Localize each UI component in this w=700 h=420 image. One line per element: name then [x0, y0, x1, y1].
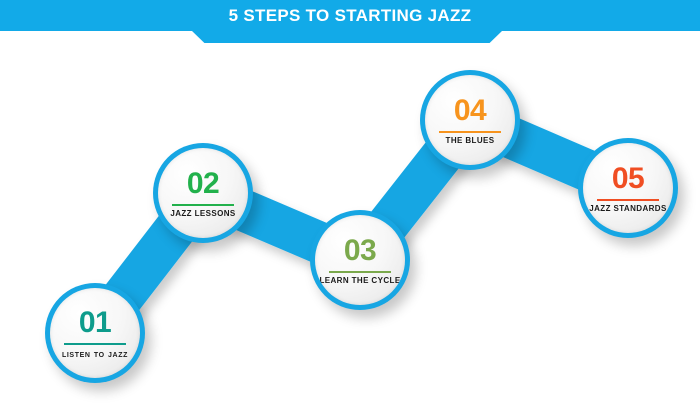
- step-rule-4: [439, 131, 501, 133]
- step-number-2: 02: [187, 169, 219, 199]
- step-inner-1: 01 Listen to Jazz: [50, 288, 140, 378]
- step-number-3: 03: [344, 236, 376, 266]
- step-number-1: 01: [79, 308, 111, 338]
- step-label-5: JAZZ STANDARDS: [589, 205, 666, 214]
- step-inner-2: 02 JAZZ LESSONS: [158, 148, 248, 238]
- step-node-3[interactable]: 03 LEARN THE CYCLE: [310, 210, 410, 310]
- step-label-2: JAZZ LESSONS: [170, 210, 235, 219]
- step-node-2[interactable]: 02 JAZZ LESSONS: [153, 143, 253, 243]
- step-node-5[interactable]: 05 JAZZ STANDARDS: [578, 138, 678, 238]
- step-rule-1: [64, 343, 126, 345]
- step-node-4[interactable]: 04 THE BLUES: [420, 70, 520, 170]
- step-node-1[interactable]: 01 Listen to Jazz: [45, 283, 145, 383]
- step-number-5: 05: [612, 164, 644, 194]
- step-inner-4: 04 THE BLUES: [425, 75, 515, 165]
- header-tab-shape: [192, 31, 502, 43]
- step-label-3: LEARN THE CYCLE: [319, 277, 400, 286]
- step-label-1: Listen to Jazz: [62, 349, 128, 360]
- page-title: 5 STEPS TO STARTING JAZZ: [0, 0, 700, 31]
- step-inner-5: 05 JAZZ STANDARDS: [583, 143, 673, 233]
- infographic-canvas: 5 STEPS TO STARTING JAZZ 01 Listen to Ja…: [0, 0, 700, 420]
- step-rule-5: [597, 199, 659, 201]
- step-rule-3: [329, 271, 391, 273]
- step-rule-2: [172, 204, 234, 206]
- step-number-4: 04: [454, 96, 486, 126]
- step-label-4: THE BLUES: [446, 137, 495, 146]
- step-inner-3: 03 LEARN THE CYCLE: [315, 215, 405, 305]
